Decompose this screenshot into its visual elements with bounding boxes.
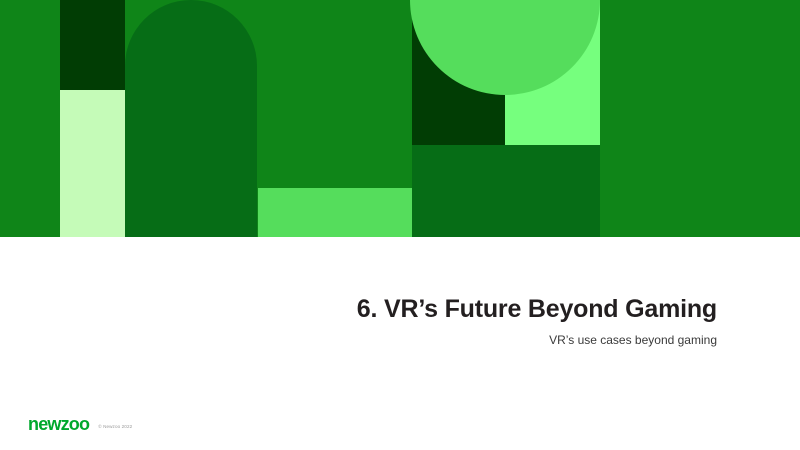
footer: newzoo © Newzoo 2022 bbox=[28, 415, 132, 433]
newzoo-logo: newzoo bbox=[28, 415, 89, 433]
banner-shape-pale-column bbox=[60, 90, 125, 237]
slide: 6. VR’s Future Beyond Gaming VR’s use ca… bbox=[0, 0, 800, 450]
decorative-banner bbox=[0, 0, 800, 237]
title-block: 6. VR’s Future Beyond Gaming VR’s use ca… bbox=[77, 296, 717, 347]
banner-shape-arch bbox=[125, 0, 257, 237]
slide-subtitle: VR’s use cases beyond gaming bbox=[77, 333, 717, 347]
banner-shape-bright-rect bbox=[258, 188, 412, 237]
copyright-text: © Newzoo 2022 bbox=[98, 425, 132, 433]
banner-shape-dark-square-left bbox=[60, 0, 125, 90]
banner-shape-right-fill bbox=[600, 0, 800, 237]
banner-shape-lower-right-block bbox=[412, 145, 600, 237]
slide-title: 6. VR’s Future Beyond Gaming bbox=[77, 296, 717, 324]
